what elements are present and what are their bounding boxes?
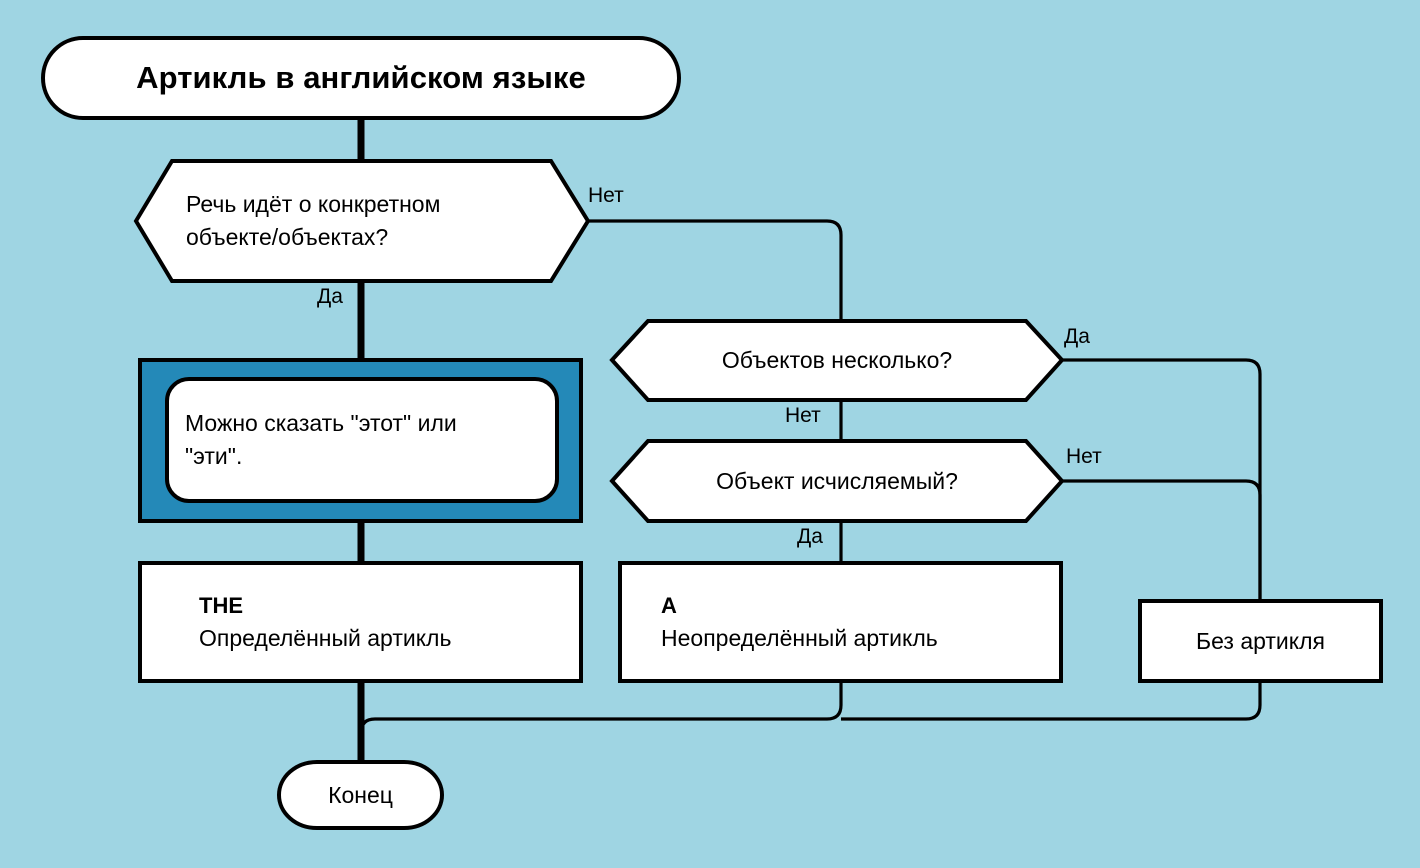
edge-a-to-merge: [361, 681, 841, 762]
decision-plural-shape[interactable]: [612, 321, 1062, 400]
edge-label-countable-no: Нет: [1066, 445, 1102, 469]
result-none-shape[interactable]: [1140, 601, 1381, 681]
edge-specific-no-to-plural: [588, 221, 841, 320]
result-the-shape[interactable]: [140, 563, 581, 681]
end-node-shape[interactable]: [279, 762, 442, 828]
flowchart-canvas: Артикль в английском языке Речь идёт о к…: [0, 0, 1420, 868]
result-a-shape[interactable]: [620, 563, 1061, 681]
edge-label-countable-yes: Да: [797, 525, 823, 549]
edge-countable-no-to-none: [1062, 481, 1260, 601]
edge-label-specific-no: Нет: [588, 184, 624, 208]
edge-label-plural-no: Нет: [785, 404, 821, 428]
edge-label-plural-yes: Да: [1064, 325, 1090, 349]
flowchart-shapes-layer: [0, 0, 1420, 868]
decision-specific-shape[interactable]: [136, 161, 588, 281]
decision-countable-shape[interactable]: [612, 441, 1062, 521]
edge-none-to-merge: [841, 681, 1260, 719]
edge-label-specific-yes: Да: [317, 285, 343, 309]
start-node-shape[interactable]: [43, 38, 679, 118]
note-node-shape[interactable]: [167, 379, 557, 501]
